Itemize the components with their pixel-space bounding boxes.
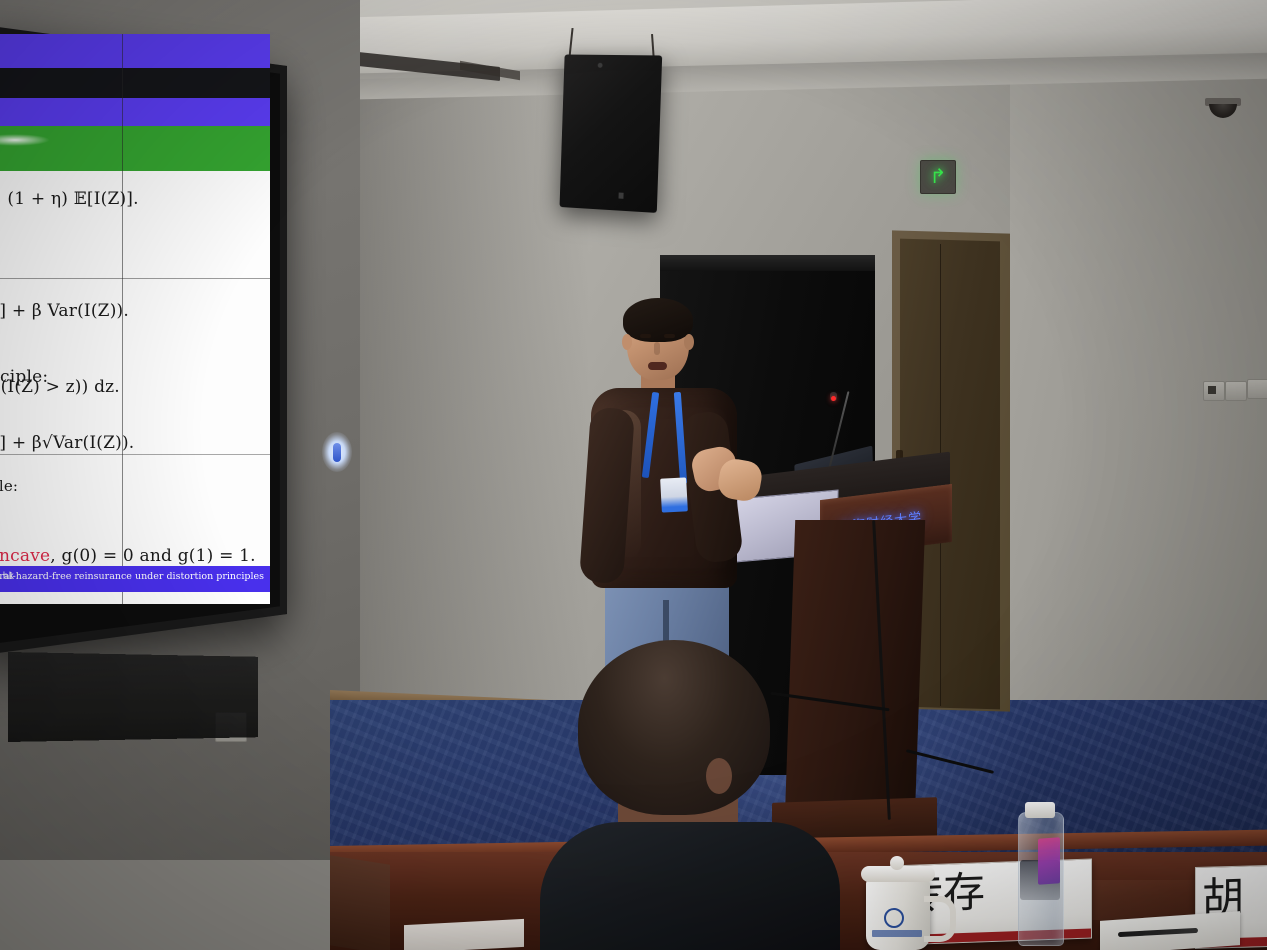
emergency-exit-sign: ↱ <box>920 160 956 194</box>
handout-left[interactable] <box>404 919 524 950</box>
slide-line-7b: , g(0) = 0 and g(1) = 1. <box>50 546 255 566</box>
presenter-eye-right <box>664 334 675 338</box>
slide-line-6: m principle: <box>0 477 18 495</box>
audience-hair <box>578 640 770 815</box>
presenter-mouth <box>648 362 667 370</box>
presenter-ear-right <box>684 334 694 350</box>
slide-band-green <box>0 126 270 171</box>
slide-band-blue-second <box>0 98 270 126</box>
display-lower-panel <box>8 652 258 742</box>
slide-band-dark <box>0 68 270 98</box>
slide-band-blue-top <box>0 34 270 68</box>
audience-ear <box>706 758 732 794</box>
audience-shoulders <box>540 822 840 950</box>
slide-line-5: η) 𝔼[I(Z)] + β√Var(I(Z)). <box>0 433 134 453</box>
presenter-nose <box>654 342 660 355</box>
slide-footer-bar: .edu.hk Moral-hazard-free reinsurance un… <box>0 566 270 592</box>
mug-handle <box>924 896 956 942</box>
slide-content: le: c(I) = (1 + η) 𝔼[I(Z)]. le: η) 𝔼[I(Z… <box>0 171 270 566</box>
slide-line-3: η) 𝔼[I(Z)] + β Var(I(Z)). <box>0 301 129 321</box>
conference-room-photo: ↱ le: c(I) = (1 + η) 𝔼[I(Z)]. le: η) 𝔼[I… <box>0 0 1267 950</box>
microphone-led-icon <box>831 396 836 401</box>
av-cabinet-top <box>660 255 875 271</box>
running-man-icon: ↱ <box>930 167 947 187</box>
presenter-ear-left <box>622 334 632 350</box>
mug-emblem-icon <box>884 908 904 928</box>
lectern-body <box>785 520 925 820</box>
integral-integrand: g(𝔼(I(Z) > z)) dz. <box>0 377 120 397</box>
slide-line-1: le: c(I) = (1 + η) 𝔼[I(Z)]. <box>0 189 139 209</box>
slide-integral-line: ∫∞0 g(𝔼(I(Z) > z)) dz. <box>0 371 120 403</box>
wall-outlet-3[interactable] <box>1247 379 1267 399</box>
mug-emblem-text <box>872 930 922 937</box>
wall-outlet-1[interactable] <box>1203 381 1225 401</box>
slide-line-7: g and concave, g(0) = 0 and g(1) = 1. <box>0 546 256 566</box>
wall-outlet-2[interactable] <box>1225 381 1247 401</box>
slide-highlight-concave: concave <box>0 546 50 566</box>
mug-lid-knob[interactable] <box>890 856 904 870</box>
presenter-hair <box>623 298 693 342</box>
slide-footer-title: Moral-hazard-free reinsurance under dist… <box>0 571 264 582</box>
water-bottle-cap[interactable] <box>1025 802 1055 818</box>
screen-seam-horizontal-1 <box>0 278 270 279</box>
slide-screen: le: c(I) = (1 + η) 𝔼[I(Z)]. le: η) 𝔼[I(Z… <box>0 34 270 604</box>
presenter-badge <box>660 477 688 512</box>
display-power-led-core <box>333 443 341 462</box>
speaker-mount-dot <box>598 63 603 68</box>
speaker-logo-dot <box>619 193 624 199</box>
screen-seam-horizontal-2 <box>0 454 270 455</box>
presenter-eye-left <box>640 334 651 338</box>
audience-member <box>540 640 790 950</box>
screen-seam-vertical <box>122 34 123 604</box>
table-left-section <box>330 855 390 950</box>
ceiling-speaker <box>560 54 663 212</box>
water-bottle-label <box>1038 837 1060 885</box>
